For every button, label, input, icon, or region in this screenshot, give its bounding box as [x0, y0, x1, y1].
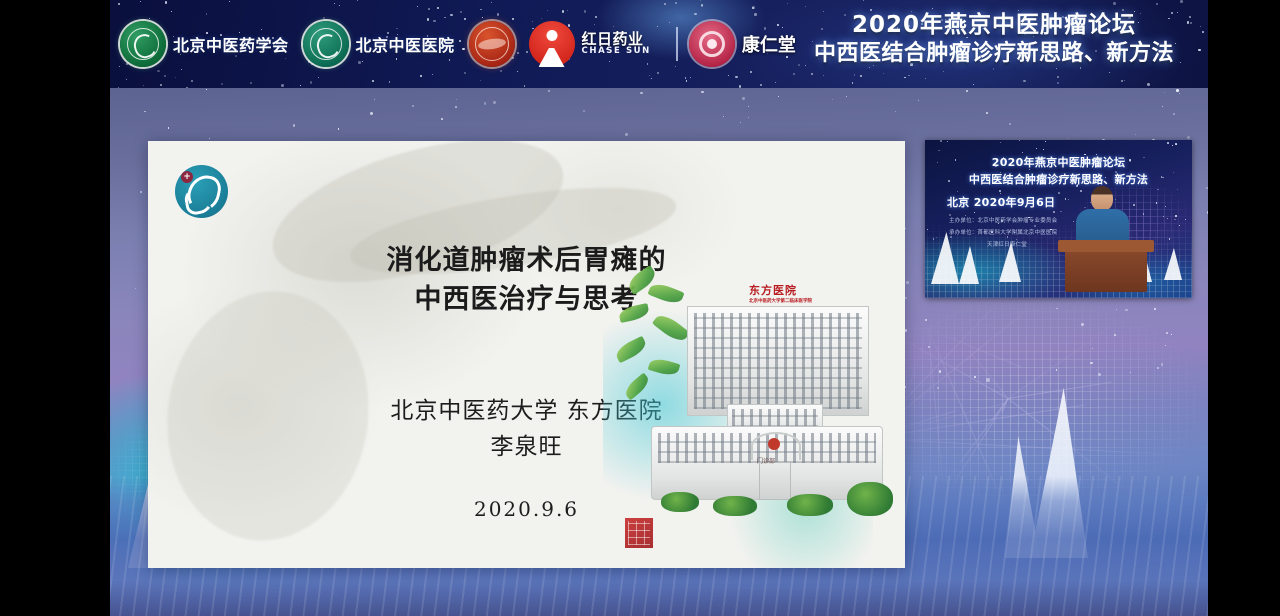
hedge-decoration: [713, 496, 757, 516]
podium: [1065, 246, 1147, 292]
sponsor-logo-strip: 北京中医药学会 北京中医医院 红日药业 CHASE SUN: [120, 0, 810, 88]
red-seal-stamp-icon: [625, 518, 653, 548]
speaker-picture-in-picture[interactable]: 2020年燕京中医肿瘤论坛 中西医结合肿瘤诊疗新思路、新方法 北京 2020年9…: [925, 140, 1192, 298]
dongfang-hospital-dove-logo-icon: +: [175, 165, 228, 218]
pip-credit-line1: 主办单位：北京中医药学会肿瘤专业委员会: [949, 216, 1057, 224]
green-circle-emblem-icon: [120, 21, 166, 67]
pip-event-title-line2: 中西医结合肿瘤诊疗新思路、新方法: [925, 171, 1192, 187]
hedge-decoration: [847, 482, 893, 516]
screen-recording-frame: 北京中医药学会 北京中医医院 红日药业 CHASE SUN: [0, 0, 1280, 616]
green-circle-emblem-icon: [303, 21, 349, 67]
hedge-decoration: [661, 492, 699, 512]
pip-credit-line2: 承办单位：首都医科大学附属北京中医医院: [949, 228, 1057, 236]
hospital-emblem-icon: [768, 438, 780, 450]
event-sponsor-banner: 北京中医药学会 北京中医医院 红日药业 CHASE SUN: [110, 0, 1208, 88]
pip-event-title-line1: 2020年燕京中医肿瘤论坛: [925, 154, 1192, 170]
left-black-bar: [0, 0, 110, 616]
right-black-bar: [1208, 0, 1280, 616]
sponsor-name-label: 康仁堂: [742, 31, 796, 57]
entrance-label: 门诊部: [757, 456, 775, 465]
hospital-tower-block: [687, 306, 869, 416]
sponsor-logo-beijing-tcm-hospital: 北京中医医院: [303, 21, 455, 67]
stage-backdrop: + 消化道肿瘤术后胃瘫的 中西医治疗与思考 北京中医药大学 东方医院 李泉旺 2…: [110, 88, 1208, 616]
projected-slide: + 消化道肿瘤术后胃瘫的 中西医治疗与思考 北京中医药大学 东方医院 李泉旺 2…: [148, 141, 905, 568]
hedge-decoration: [787, 494, 833, 516]
red-circle-emblem-icon: [469, 21, 515, 67]
kangrentang-logo-icon: [689, 21, 735, 67]
speaker-head: [1091, 186, 1113, 211]
sponsor-name-en-label: CHASE SUN: [582, 47, 651, 56]
hospital-illustration: 东方医院 北京中医药大学第二临床医学院 门诊部: [609, 268, 905, 568]
event-title-line1: 2020年燕京中医肿瘤论坛: [794, 11, 1194, 40]
medical-cross-icon: +: [181, 171, 193, 183]
building-sign-label: 东方医院 北京中医药大学第二临床医学院: [749, 282, 812, 304]
event-title-line2: 中西医结合肿瘤诊疗新思路、新方法: [794, 40, 1194, 69]
sponsor-logo-beijing-tcm-society: 北京中医药学会: [120, 21, 289, 67]
logo-divider: [676, 27, 678, 61]
chase-sun-logo-icon: [529, 21, 575, 67]
event-title-block: 2020年燕京中医肿瘤论坛 中西医结合肿瘤诊疗新思路、新方法: [794, 11, 1194, 68]
sponsor-logo-unnamed-red: [469, 21, 515, 67]
sponsor-name-label: 红日药业: [582, 32, 651, 48]
sponsor-logo-kangrentang: 康仁堂: [689, 21, 796, 67]
sponsor-name-label: 北京中医医院: [356, 32, 455, 56]
conference-video-area: 北京中医药学会 北京中医医院 红日药业 CHASE SUN: [110, 0, 1208, 616]
entrance-door: [759, 462, 791, 500]
sponsor-logo-chase-sun: 红日药业 CHASE SUN: [529, 21, 651, 67]
building-sign-sub-label: 北京中医药大学第二临床医学院: [749, 298, 812, 304]
sponsor-name-label: 北京中医药学会: [173, 32, 289, 56]
window-grid: [694, 313, 862, 409]
pip-location-date: 北京 2020年9月6日: [947, 194, 1055, 210]
pip-credit-line3: 天津红日康仁堂: [987, 240, 1027, 248]
